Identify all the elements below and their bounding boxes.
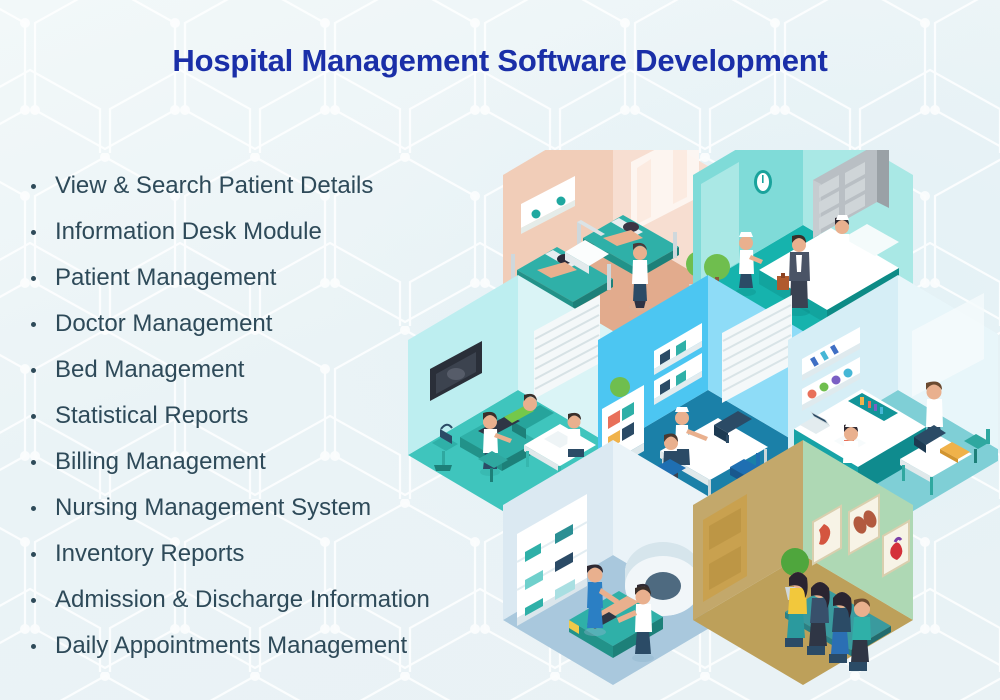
bullet-icon xyxy=(31,644,36,649)
bullet-icon xyxy=(31,184,36,189)
list-item-label: Admission & Discharge Information xyxy=(55,586,430,613)
list-item-label: Daily Appointments Management xyxy=(55,632,407,659)
list-item-label: View & Search Patient Details xyxy=(55,172,373,199)
poster-canvas: Hospital Management Software Development… xyxy=(0,0,1000,700)
bullet-icon xyxy=(31,322,36,327)
bullet-icon xyxy=(31,552,36,557)
bullet-icon xyxy=(31,414,36,419)
bullet-icon xyxy=(31,598,36,603)
hospital-isometric-illustration xyxy=(408,150,998,690)
seated-staff-figure xyxy=(843,422,859,463)
list-item-label: Bed Management xyxy=(55,356,244,383)
list-item-label: Patient Management xyxy=(55,264,276,291)
list-item-label: Billing Management xyxy=(55,448,266,475)
bullet-icon xyxy=(31,276,36,281)
list-item-label: Information Desk Module xyxy=(55,218,322,245)
list-item-label: Statistical Reports xyxy=(55,402,248,429)
list-item-label: Inventory Reports xyxy=(55,540,244,567)
bullet-icon xyxy=(31,230,36,235)
list-item-label: Doctor Management xyxy=(55,310,272,337)
list-item-label: Nursing Management System xyxy=(55,494,371,521)
bullet-icon xyxy=(31,368,36,373)
bullet-icon xyxy=(31,506,36,511)
wall-clock-icon xyxy=(754,170,772,194)
receptionist-figure xyxy=(834,215,850,258)
page-title: Hospital Management Software Development xyxy=(0,43,1000,79)
bullet-icon xyxy=(31,460,36,465)
